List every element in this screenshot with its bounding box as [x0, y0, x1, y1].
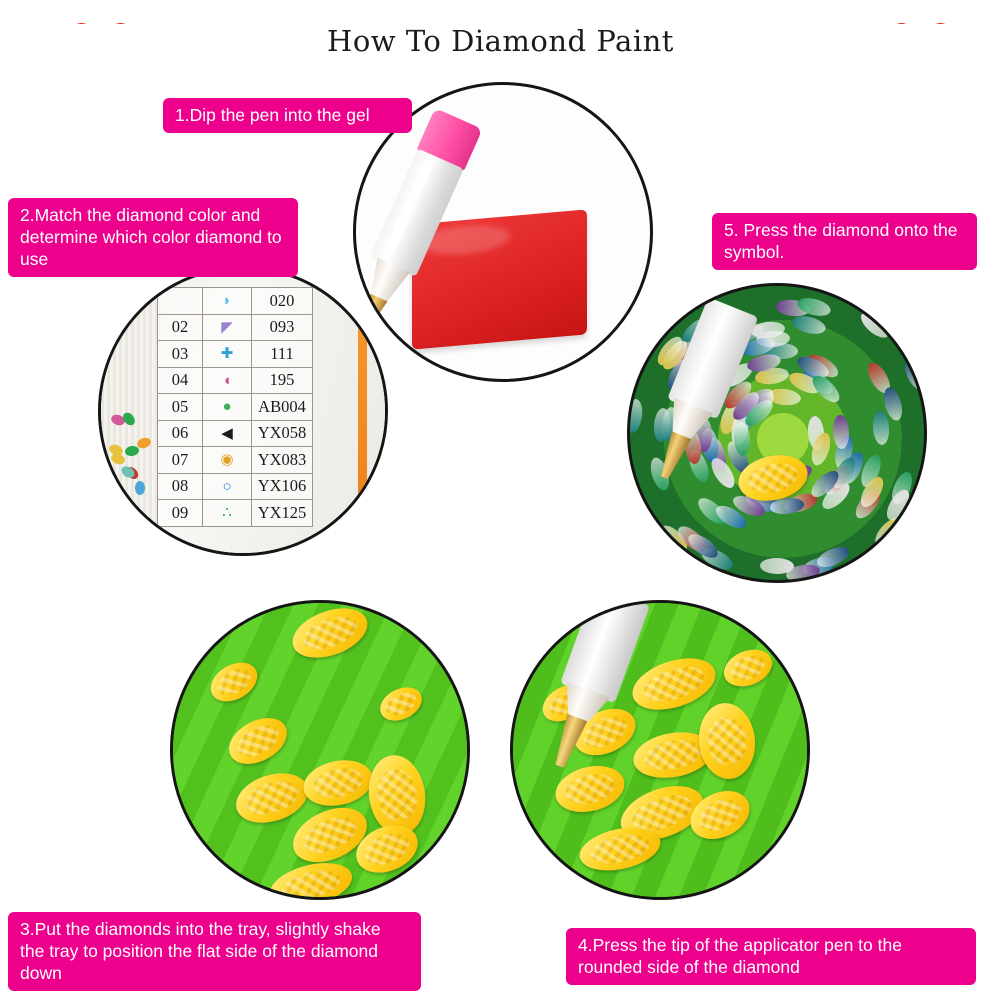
chart-code: YX083 — [252, 447, 313, 474]
page-title: How To Diamond Paint — [0, 24, 1001, 58]
pen-tip — [546, 713, 590, 771]
chart-symbol-icon: ◀ — [203, 420, 252, 447]
chart-code: AB004 — [252, 394, 313, 421]
color-chart-table: ◗02002◤09303✚11104◖19505●AB00406◀YX05807… — [157, 287, 313, 527]
photo-color-chart: ◗02002◤09303✚11104◖19505●AB00406◀YX05807… — [98, 266, 388, 556]
color-chart-row: 04◖195 — [158, 367, 313, 394]
color-chart-row: 08○YX106 — [158, 473, 313, 500]
step-5-label: 5. Press the diamond onto the symbol. — [712, 213, 977, 270]
chart-code: YX106 — [252, 473, 313, 500]
loose-diamond — [135, 481, 145, 495]
color-chart-body: ◗02002◤09303✚11104◖19505●AB00406◀YX05807… — [158, 288, 313, 527]
chart-symbol-icon: ◉ — [203, 447, 252, 474]
loose-diamond — [135, 526, 151, 539]
chart-symbol-icon: ◖ — [203, 367, 252, 394]
loose-diamond — [104, 549, 120, 556]
chart-code: 111 — [252, 341, 313, 368]
chart-number: 07 — [158, 447, 203, 474]
step-1-label: 1.Dip the pen into the gel — [163, 98, 412, 133]
chart-number: 05 — [158, 394, 203, 421]
color-chart-row: 03✚111 — [158, 341, 313, 368]
color-chart-row: ◗020 — [158, 288, 313, 315]
chart-number — [158, 288, 203, 315]
loose-diamond — [110, 453, 126, 467]
step-3-label: 3.Put the diamonds into the tray, slight… — [8, 912, 421, 991]
color-chart-row: 05●AB004 — [158, 394, 313, 421]
chart-number: 03 — [158, 341, 203, 368]
color-chart-row: 06◀YX058 — [158, 420, 313, 447]
photo-diamonds-in-tray — [170, 600, 470, 900]
chart-code: YX125 — [252, 500, 313, 527]
chart-number: 09 — [158, 500, 203, 527]
chart-number: 06 — [158, 420, 203, 447]
step-2-label: 2.Match the diamond color and determine … — [8, 198, 298, 277]
chart-symbol-icon: ◗ — [203, 288, 252, 315]
chart-number: 02 — [158, 314, 203, 341]
photo-pen-picks-diamond — [510, 600, 810, 900]
step-4-label: 4.Press the tip of the applicator pen to… — [566, 928, 976, 985]
loose-diamond — [121, 410, 138, 427]
chart-code: YX058 — [252, 420, 313, 447]
chart-symbol-icon: ● — [203, 394, 252, 421]
chart-symbol-icon: ✚ — [203, 341, 252, 368]
color-chart-row: 02◤093 — [158, 314, 313, 341]
instruction-infographic: How To Diamond Paint ◗02002◤09303✚11104◖… — [0, 0, 1001, 1001]
chart-number: 04 — [158, 367, 203, 394]
chart-symbol-icon: ∴ — [203, 500, 252, 527]
color-chart-row: 09∴YX125 — [158, 500, 313, 527]
chart-symbol-icon: ◤ — [203, 314, 252, 341]
chart-code: 093 — [252, 314, 313, 341]
photo-press-diamond-on-symbol — [627, 283, 927, 583]
orange-tape — [358, 279, 367, 555]
color-chart-row: 07◉YX083 — [158, 447, 313, 474]
chart-symbol-icon: ○ — [203, 473, 252, 500]
chart-code: 195 — [252, 367, 313, 394]
chart-number: 08 — [158, 473, 203, 500]
chart-code: 020 — [252, 288, 313, 315]
loose-diamonds — [103, 407, 155, 556]
loose-diamond — [125, 549, 141, 556]
